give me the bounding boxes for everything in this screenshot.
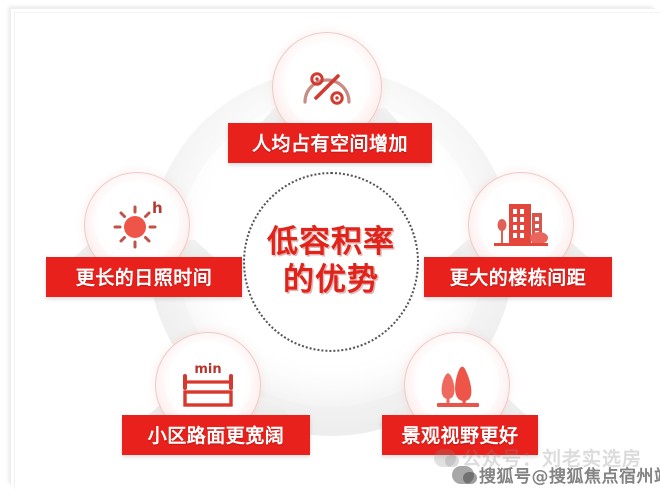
node-right-label[interactable]: 更大的楼栋间距 (424, 257, 612, 297)
node-left-label[interactable]: 更长的日照时间 (46, 257, 242, 297)
node-bottom-right-label[interactable]: 景观视野更好 (382, 415, 538, 455)
percent-gauge-icon (300, 62, 354, 112)
road-width-icon: min (178, 359, 238, 411)
core-title-line-2: 的优势 (283, 262, 379, 300)
sun-hours-icon-unit-text: h (152, 199, 163, 217)
road-width-icon-unit-text: min (194, 362, 221, 377)
node-bottom-left-label[interactable]: 小区路面更宽阔 (122, 415, 310, 455)
buildings-spacing-icon (492, 198, 550, 252)
infographic-canvas: 低容积率 的优势 人均占有空间增加 (0, 0, 660, 489)
node-top-label[interactable]: 人均占有空间增加 (228, 123, 432, 163)
core-title-line-1: 低容积率 (267, 224, 395, 262)
trees-landscape-icon (428, 359, 486, 411)
sun-hours-icon: h (109, 199, 165, 251)
core-dotted-ring: 低容积率 的优势 (243, 172, 419, 352)
